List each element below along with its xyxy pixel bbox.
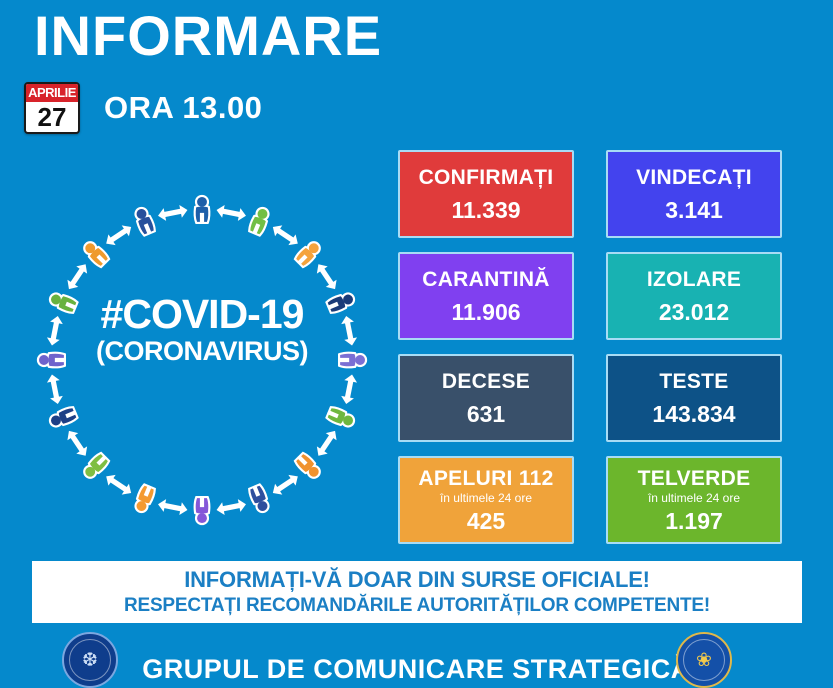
double-arrow-icon bbox=[215, 498, 247, 517]
seal-emblem: ❀ bbox=[687, 643, 721, 677]
double-arrow-icon bbox=[157, 498, 189, 517]
person-figure-icon bbox=[82, 240, 108, 266]
stat-label: TESTE bbox=[659, 370, 728, 393]
calendar-day-label: 27 bbox=[26, 102, 78, 132]
person-figure-icon bbox=[340, 354, 365, 367]
person-figure-icon bbox=[39, 354, 64, 367]
double-arrow-icon bbox=[103, 471, 135, 498]
time-label: ORA 13.00 bbox=[104, 90, 262, 126]
stat-label: DECESE bbox=[442, 370, 530, 393]
double-arrow-icon bbox=[340, 315, 359, 347]
stat-label: CARANTINĂ bbox=[422, 268, 550, 291]
stat-value: 23.012 bbox=[659, 301, 729, 324]
footer: ❆ GRUPUL DE COMUNICARE STRATEGICĂ ❀ bbox=[0, 630, 833, 688]
double-arrow-icon bbox=[313, 427, 340, 459]
person-figure-icon bbox=[196, 197, 209, 222]
banner-line-2: RESPECTAȚI RECOMANDĂRILE AUTORITĂȚILOR C… bbox=[124, 595, 710, 617]
stat-box-decese[interactable]: DECESE 631 bbox=[398, 354, 574, 442]
stat-value: 143.834 bbox=[652, 403, 735, 426]
person-figure-icon bbox=[134, 485, 155, 513]
stat-label: VINDECAȚI bbox=[636, 166, 752, 189]
double-arrow-icon bbox=[313, 261, 340, 293]
stat-box-carantina[interactable]: CARANTINĂ 11.906 bbox=[398, 252, 574, 340]
official-sources-banner: INFORMAȚI-VĂ DOAR DIN SURSE OFICIALE! RE… bbox=[32, 561, 802, 623]
double-arrow-icon bbox=[64, 427, 91, 459]
stat-box-confirmati[interactable]: CONFIRMAȚI 11.339 bbox=[398, 150, 574, 238]
stat-box-apeluri-112[interactable]: APELURI 112 în ultimele 24 ore 425 bbox=[398, 456, 574, 544]
person-figure-icon bbox=[249, 485, 270, 513]
person-figure-icon bbox=[327, 407, 355, 428]
person-figure-icon bbox=[196, 498, 209, 523]
stat-value: 425 bbox=[467, 510, 505, 533]
person-figure-icon bbox=[295, 240, 321, 266]
social-distancing-circle-icon: #COVID-19 (CORONAVIRUS) bbox=[22, 175, 382, 545]
stat-value: 11.906 bbox=[451, 301, 520, 324]
banner-line-1: INFORMAȚI-VĂ DOAR DIN SURSE OFICIALE! bbox=[184, 567, 650, 593]
circle-figures-svg bbox=[22, 175, 382, 545]
person-figure-icon bbox=[134, 207, 155, 235]
stat-box-telverde[interactable]: TELVERDE în ultimele 24 ore 1.197 bbox=[606, 456, 782, 544]
calendar-icon: APRILIE 27 bbox=[24, 82, 80, 134]
header: INFORMARE APRILIE 27 ORA 13.00 bbox=[0, 0, 833, 150]
double-arrow-icon bbox=[103, 222, 135, 249]
double-arrow-icon bbox=[64, 261, 91, 293]
double-arrow-icon bbox=[269, 222, 301, 249]
person-figure-icon bbox=[82, 453, 108, 479]
stat-value: 1.197 bbox=[665, 510, 723, 533]
double-arrow-icon bbox=[46, 373, 65, 405]
stat-box-teste[interactable]: TESTE 143.834 bbox=[606, 354, 782, 442]
double-arrow-icon bbox=[215, 204, 247, 223]
person-figure-icon bbox=[295, 453, 321, 479]
person-figure-icon bbox=[249, 207, 270, 235]
person-figure-icon bbox=[49, 407, 77, 428]
stat-value: 3.141 bbox=[665, 199, 723, 222]
double-arrow-icon bbox=[46, 315, 65, 347]
statistics-grid: CONFIRMAȚI 11.339 VINDECAȚI 3.141 CARANT… bbox=[398, 150, 788, 544]
calendar-month-label: APRILIE bbox=[26, 84, 78, 102]
page-title: INFORMARE bbox=[34, 8, 382, 64]
departament-situatii-urgenta-seal-icon: ❀ bbox=[676, 632, 732, 688]
stat-subtitle: în ultimele 24 ore bbox=[648, 491, 740, 507]
stat-label: IZOLARE bbox=[647, 268, 741, 291]
stat-label: CONFIRMAȚI bbox=[419, 166, 554, 189]
stat-value: 631 bbox=[467, 403, 505, 426]
date-time-row: APRILIE 27 ORA 13.00 bbox=[24, 82, 262, 134]
stat-label: APELURI 112 bbox=[418, 467, 553, 490]
stat-value: 11.339 bbox=[451, 199, 520, 222]
person-figure-icon bbox=[327, 292, 355, 313]
stat-box-vindecati[interactable]: VINDECAȚI 3.141 bbox=[606, 150, 782, 238]
stat-box-izolare[interactable]: IZOLARE 23.012 bbox=[606, 252, 782, 340]
stat-subtitle: în ultimele 24 ore bbox=[440, 491, 532, 507]
double-arrow-icon bbox=[340, 373, 359, 405]
person-figure-icon bbox=[49, 292, 77, 313]
double-arrow-icon bbox=[269, 471, 301, 498]
stat-label: TELVERDE bbox=[638, 467, 751, 490]
double-arrow-icon bbox=[157, 204, 189, 223]
